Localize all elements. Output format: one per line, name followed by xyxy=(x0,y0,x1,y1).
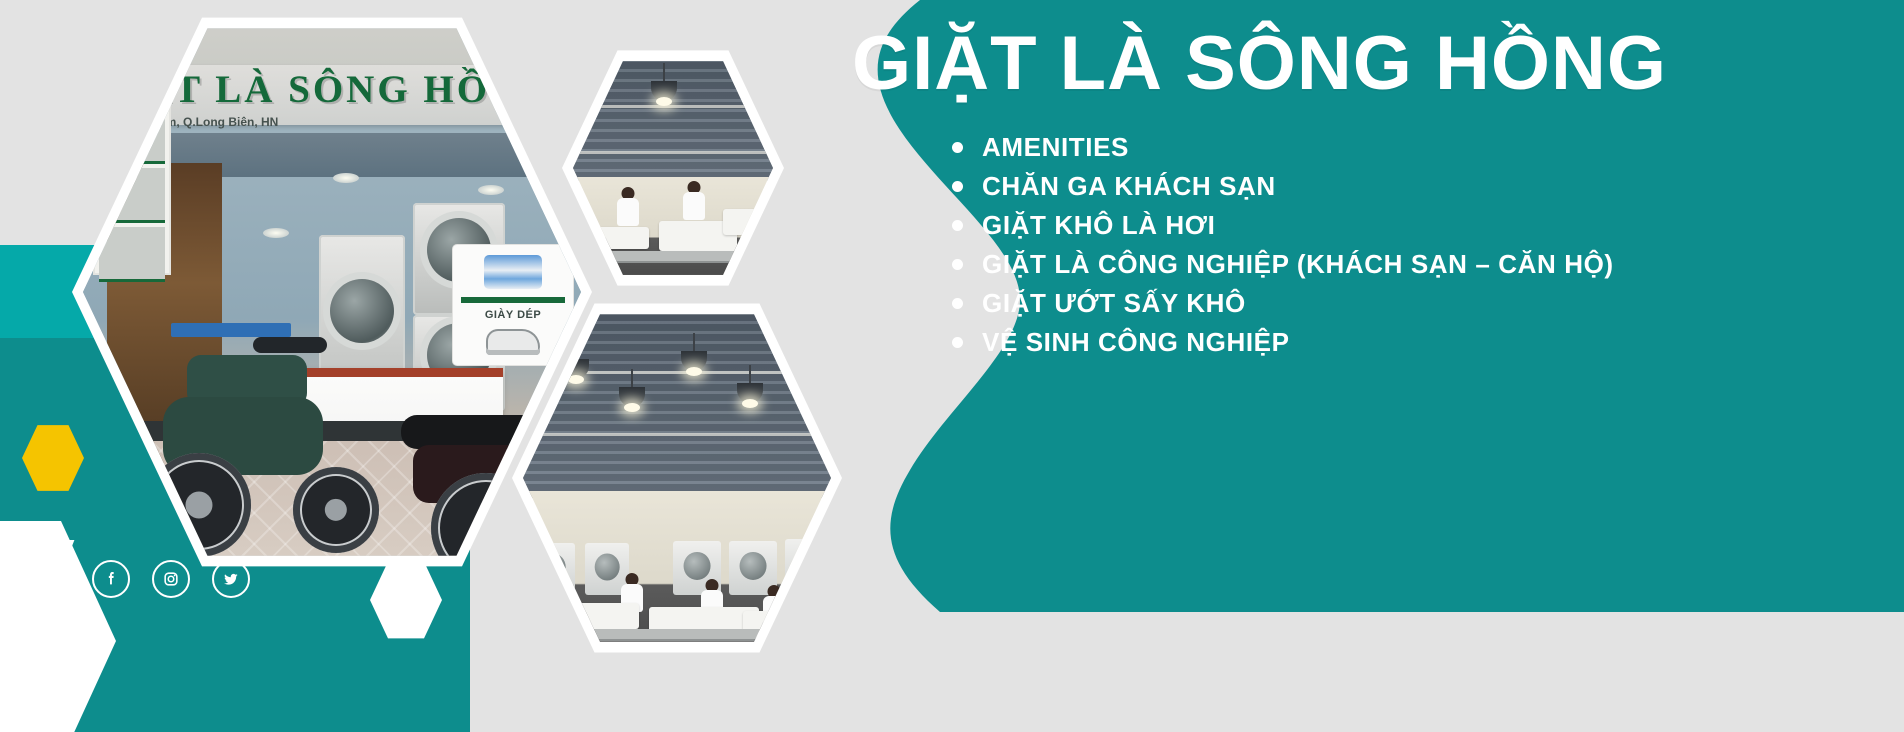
service-item: AMENITIES xyxy=(952,128,1882,167)
social-links xyxy=(92,560,250,598)
worker-torso xyxy=(763,596,785,624)
service-item: CHĂN GA KHÁCH SẠN xyxy=(952,167,1882,206)
service-label: AMENITIES xyxy=(982,132,1129,163)
page-title: GIẶT LÀ SÔNG HỒNG xyxy=(852,26,1892,102)
service-label: GIẶT ƯỚT SẤY KHÔ xyxy=(982,288,1246,319)
linen-stack xyxy=(549,603,639,629)
hexagon-frame xyxy=(562,48,784,288)
service-label: GIẶT KHÔ LÀ HƠI xyxy=(982,210,1215,241)
motorbike-handlebar xyxy=(253,337,327,353)
factory-worker xyxy=(761,585,787,631)
hexagon-image-clip xyxy=(523,311,831,645)
service-label: CHĂN GA KHÁCH SẠN xyxy=(982,171,1276,202)
ceiling-light-icon xyxy=(478,185,504,195)
bullet-dot-icon xyxy=(952,142,963,153)
bullet-dot-icon xyxy=(952,298,963,309)
factory-roof xyxy=(523,311,831,498)
folded-linen-illustration xyxy=(484,255,542,289)
work-table xyxy=(581,251,773,261)
linen-stack xyxy=(723,209,773,235)
photo-hexagon-factory-top xyxy=(562,48,784,288)
hexagon-image-clip xyxy=(573,59,773,277)
service-item: GIẶT LÀ CÔNG NGHIỆP (KHÁCH SẠN – CĂN HỘ) xyxy=(952,245,1882,284)
worker-head xyxy=(544,561,557,574)
industrial-washer xyxy=(785,539,831,595)
roof-beam xyxy=(523,433,831,436)
worker-torso xyxy=(617,198,639,226)
services-list: AMENITIES CHĂN GA KHÁCH SẠN GIẶT KHÔ LÀ … xyxy=(952,128,1882,362)
storefront-scene: ẶT LÀ SÔNG HỒ , Lâm, Q.Long Biên, HN xyxy=(83,23,581,561)
roof-beam xyxy=(523,371,831,374)
ceiling-light-icon xyxy=(333,173,359,183)
worker-torso xyxy=(683,192,705,220)
service-label: VỆ SINH CÔNG NGHIỆP xyxy=(982,327,1290,358)
factory-scene xyxy=(573,59,773,277)
work-table xyxy=(537,629,831,639)
industrial-washer xyxy=(531,543,575,595)
twitter-icon[interactable] xyxy=(212,560,250,598)
hexagon-image-clip: ẶT LÀ SÔNG HỒ , Lâm, Q.Long Biên, HN xyxy=(83,23,581,561)
instagram-icon[interactable] xyxy=(152,560,190,598)
worker-torso xyxy=(539,572,561,600)
wall-poster xyxy=(93,103,171,275)
roof-beam xyxy=(573,151,773,154)
motorbike-wheel xyxy=(293,467,379,553)
storefront-sign-text: ẶT LÀ SÔNG HỒ xyxy=(143,67,581,112)
factory-scene xyxy=(523,311,831,645)
motorbike-wheel xyxy=(147,453,251,557)
hexagon-frame xyxy=(512,300,842,656)
service-item: GIẶT KHÔ LÀ HƠI xyxy=(952,206,1882,245)
factory-worker xyxy=(537,561,563,607)
bullet-dot-icon xyxy=(952,337,963,348)
service-item: VỆ SINH CÔNG NGHIỆP xyxy=(952,323,1882,362)
bullet-dot-icon xyxy=(952,259,963,270)
service-label: GIẶT LÀ CÔNG NGHIỆP (KHÁCH SẠN – CĂN HỘ) xyxy=(982,249,1614,280)
bullet-dot-icon xyxy=(952,181,963,192)
roof-beam xyxy=(573,105,773,108)
bullet-dot-icon xyxy=(952,220,963,231)
ceiling-light-icon xyxy=(263,228,289,238)
photo-hexagon-factory-bottom xyxy=(512,300,842,656)
factory-roof xyxy=(573,59,773,181)
green-motorbike xyxy=(143,333,373,561)
promotional-banner: ẶT LÀ SÔNG HỒ , Lâm, Q.Long Biên, HN xyxy=(0,0,1904,732)
service-item: GIẶT ƯỚT SẤY KHÔ xyxy=(952,284,1882,323)
facebook-icon[interactable] xyxy=(92,560,130,598)
linen-stack xyxy=(589,227,649,249)
